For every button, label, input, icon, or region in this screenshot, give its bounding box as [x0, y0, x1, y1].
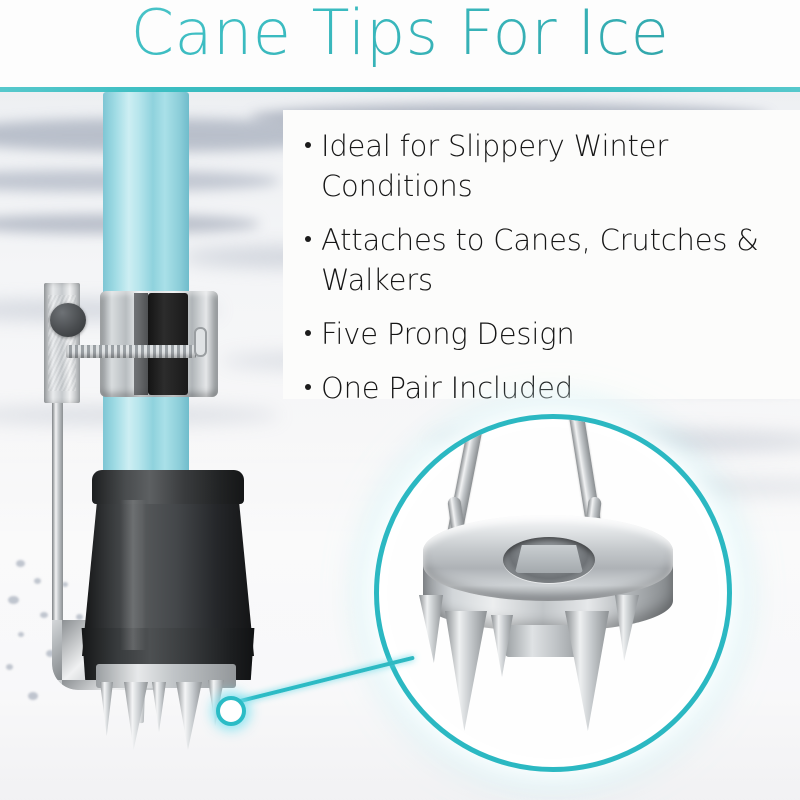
list-item: Five Prong Design	[303, 314, 795, 354]
ice-tip-spike	[445, 611, 487, 731]
cane-clamp-assembly	[38, 283, 213, 403]
clamp-eyelet	[194, 327, 207, 357]
list-item: One Pair Included	[303, 368, 795, 408]
clamp-knob	[50, 303, 86, 337]
feature-text: One Pair Included	[321, 368, 573, 408]
clamp-bracket	[44, 283, 80, 403]
support-rod	[52, 380, 63, 632]
title-divider	[0, 87, 800, 92]
list-item: Attaches to Canes, Crutches & Walkers	[303, 220, 795, 300]
snow-speck	[8, 596, 19, 604]
bullet-dot-icon	[305, 330, 311, 336]
features-list: Ideal for Slippery Winter Conditions Att…	[303, 126, 795, 422]
title-band: Cane Tips For Ice	[0, 0, 800, 92]
bullet-dot-icon	[305, 236, 311, 242]
product-marketing-image: Ideal for Slippery Winter Conditions Att…	[0, 0, 800, 800]
ice-tip-spike	[419, 595, 443, 663]
callout-anchor-dot	[216, 696, 246, 726]
callout-detail-circle	[374, 414, 732, 772]
page-title: Cane Tips For Ice	[0, 0, 800, 69]
bullet-dot-icon	[305, 384, 311, 390]
bullet-dot-icon	[305, 142, 311, 148]
snow-speck	[6, 664, 13, 670]
snow-speck	[18, 632, 24, 637]
clamp-rubber-strip	[148, 293, 188, 395]
snow-speck	[34, 578, 41, 584]
ice-tip-spike	[615, 595, 639, 661]
snow-speck	[16, 560, 25, 567]
rubber-tip-collar	[92, 470, 244, 504]
rubber-tip-highlight	[120, 500, 146, 650]
ice-tip-hole-inner	[515, 545, 583, 573]
snow-speck	[40, 612, 48, 618]
feature-text: Attaches to Canes, Crutches & Walkers	[321, 220, 795, 300]
feature-text: Ideal for Slippery Winter Conditions	[321, 126, 795, 206]
feature-text: Five Prong Design	[321, 314, 575, 354]
ice-tip-spike	[565, 611, 609, 731]
features-panel: Ideal for Slippery Winter Conditions Att…	[283, 110, 800, 399]
clamp-screw	[66, 345, 196, 358]
clamp-rubber-shadow	[134, 293, 148, 395]
snow-speck	[28, 692, 38, 700]
list-item: Ideal for Slippery Winter Conditions	[303, 126, 795, 206]
